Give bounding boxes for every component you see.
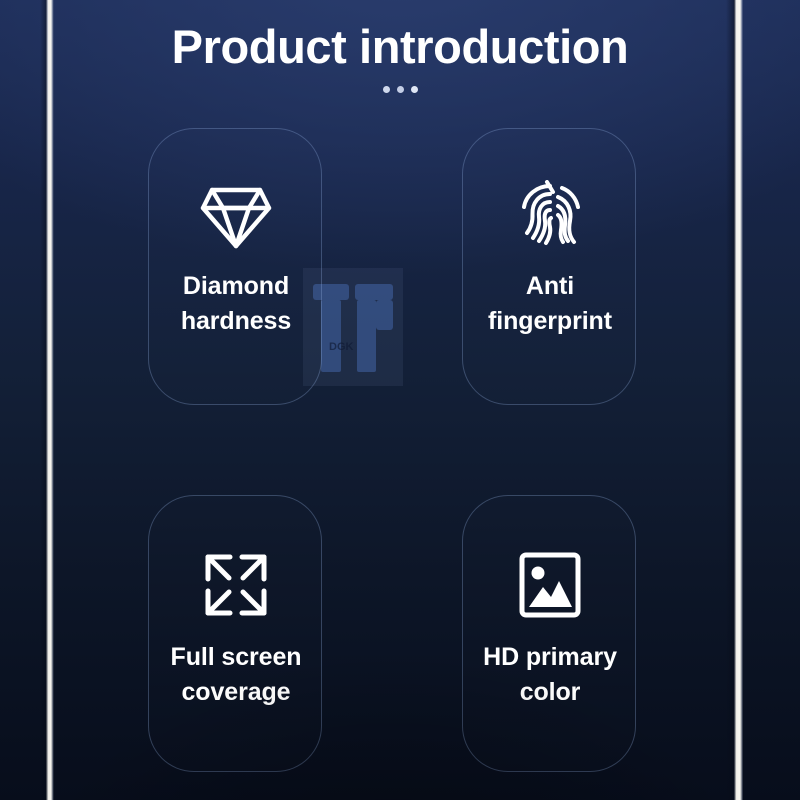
feature-card-diamond-hardness[interactable]: Diamond hardness bbox=[148, 128, 322, 405]
feature-card-grid: Diamond hardness Anti fingerprint bbox=[148, 128, 636, 776]
feature-card-label: Full screen coverage bbox=[143, 640, 329, 710]
dot-2 bbox=[397, 86, 404, 93]
expand-arrows-icon bbox=[149, 540, 323, 630]
feature-card-full-screen-coverage[interactable]: Full screen coverage bbox=[148, 495, 322, 772]
page-seam-left bbox=[46, 0, 54, 800]
feature-card-anti-fingerprint[interactable]: Anti fingerprint bbox=[462, 128, 636, 405]
feature-card-label: Anti fingerprint bbox=[457, 269, 643, 339]
fingerprint-icon bbox=[463, 173, 637, 263]
feature-card-hd-primary-color[interactable]: HD primary color bbox=[462, 495, 636, 772]
page-seam-right bbox=[734, 0, 743, 800]
product-introduction-poster: DGK Product introduction Diamond hardnes… bbox=[0, 0, 800, 800]
decorative-dots bbox=[0, 86, 800, 93]
image-photo-icon bbox=[463, 540, 637, 630]
diamond-icon bbox=[149, 173, 323, 263]
page-title: Product introduction bbox=[0, 16, 800, 78]
page-seam-right-shadow bbox=[726, 0, 735, 800]
feature-card-label: Diamond hardness bbox=[143, 269, 329, 339]
feature-card-label: HD primary color bbox=[457, 640, 643, 710]
dot-3 bbox=[411, 86, 418, 93]
dot-1 bbox=[383, 86, 390, 93]
page-seam-left-shadow bbox=[40, 0, 47, 800]
